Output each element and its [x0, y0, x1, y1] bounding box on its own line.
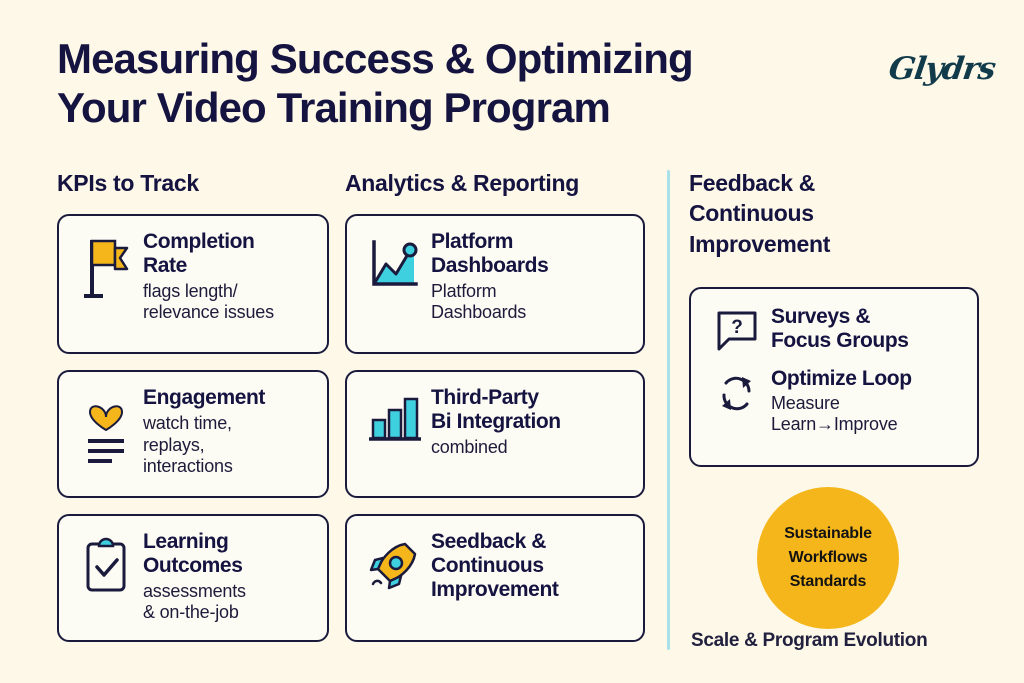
badge-line-2: Workflows [789, 546, 868, 570]
svg-text:?: ? [731, 317, 743, 338]
panel-subtitle: Measure Learn→Improve [771, 393, 963, 435]
column-heading-feedback: Feedback & Continuous Improvement [689, 168, 979, 259]
refresh-loop-icon [707, 367, 767, 419]
page-title: Measuring Success & Optimizing Your Vide… [57, 34, 887, 132]
card-seedback-continuous[interactable]: Seedback & Continuous Improvement [345, 514, 645, 642]
card-title: Platform Dashboards [431, 230, 629, 278]
column-heading-analytics: Analytics & Reporting [345, 168, 645, 198]
column-heading-kpis: KPIs to Track [57, 168, 329, 198]
panel-title: Surveys & Focus Groups [771, 305, 963, 353]
card-body: Seedback & Continuous Improvement [425, 530, 629, 605]
infographic-page: Measuring Success & Optimizing Your Vide… [0, 0, 1024, 683]
sustainable-badge: Sustainable Workflows Standards [757, 487, 899, 629]
card-learning-outcomes[interactable]: Learning Outcomes assessments & on-the-j… [57, 514, 329, 642]
card-body: Third-Party Bi Integration combined [425, 386, 629, 458]
footnote-scale-program-evolution: Scale & Program Evolution [691, 630, 927, 652]
column-kpis: KPIs to Track Completion Rate flags leng… [57, 168, 329, 658]
card-title: Engagement [143, 386, 313, 410]
panel-body: Optimize Loop Measure Learn→Improve [767, 367, 963, 435]
badge-line-1: Sustainable [784, 522, 872, 546]
column-feedback: Feedback & Continuous Improvement ? Surv… [689, 168, 979, 467]
brand-logo: Glydrs [882, 38, 1002, 100]
column-divider [667, 170, 670, 650]
logo-text: Glydrs [887, 51, 998, 87]
panel-row-surveys[interactable]: ? Surveys & Focus Groups [707, 305, 963, 353]
card-subtitle: watch time, replays, interactions [143, 413, 313, 477]
card-title: Third-Party Bi Integration [431, 386, 629, 434]
panel-title: Optimize Loop [771, 367, 963, 391]
bar-chart-icon [363, 386, 425, 446]
card-body: Learning Outcomes assessments & on-the-j… [137, 530, 313, 623]
area-chart-icon [363, 230, 425, 292]
badge-line-3: Standards [790, 570, 866, 594]
card-body: Platform Dashboards Platform Dashboards [425, 230, 629, 323]
rocket-icon [363, 530, 425, 594]
card-platform-dashboards[interactable]: Platform Dashboards Platform Dashboards [345, 214, 645, 354]
card-completion-rate[interactable]: Completion Rate flags length/ relevance … [57, 214, 329, 354]
panel-feedback[interactable]: ? Surveys & Focus Groups O [689, 287, 979, 467]
card-subtitle: flags length/ relevance issues [143, 281, 313, 323]
column-analytics: Analytics & Reporting Platform Dashboard… [345, 168, 645, 658]
question-bubble-icon: ? [707, 305, 767, 353]
card-subtitle: combined [431, 437, 629, 458]
card-title: Seedback & Continuous Improvement [431, 530, 629, 602]
card-third-party-bi[interactable]: Third-Party Bi Integration combined [345, 370, 645, 498]
card-title: Learning Outcomes [143, 530, 313, 578]
card-subtitle: Platform Dashboards [431, 281, 629, 323]
panel-row-optimize-loop[interactable]: Optimize Loop Measure Learn→Improve [707, 367, 963, 435]
heart-lines-icon [75, 386, 137, 466]
clipboard-check-icon [75, 530, 137, 596]
flag-icon [75, 230, 137, 302]
card-body: Completion Rate flags length/ relevance … [137, 230, 313, 323]
card-body: Engagement watch time, replays, interact… [137, 386, 313, 477]
card-engagement[interactable]: Engagement watch time, replays, interact… [57, 370, 329, 498]
panel-body: Surveys & Focus Groups [767, 305, 963, 353]
card-subtitle: assessments & on-the-job [143, 581, 313, 623]
card-title: Completion Rate [143, 230, 313, 278]
header: Measuring Success & Optimizing Your Vide… [57, 34, 887, 132]
